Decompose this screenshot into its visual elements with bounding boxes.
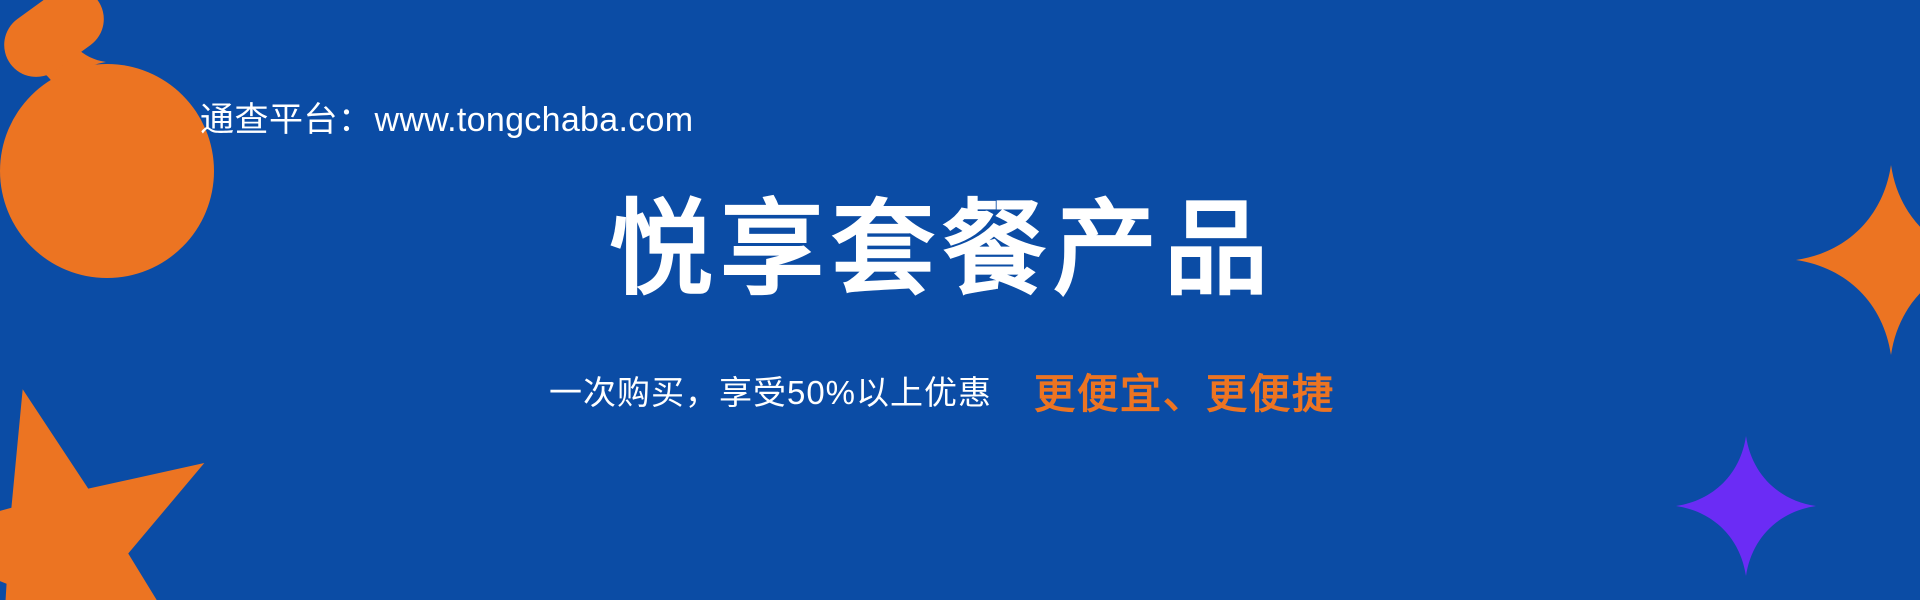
site-url: www.tongchaba.com — [375, 101, 694, 139]
site-line: 通查平台：www.tongchaba.com — [200, 101, 693, 140]
banner-subtitle: 一次购买，享受50%以上优惠更便宜、更便捷 — [0, 360, 1902, 420]
subtitle-primary: 一次购买，享受50%以上优惠 — [549, 374, 992, 411]
banner-text-layer: 通查平台：www.tongchaba.com 悦享套餐产品 一次购买，享受50%… — [0, 0, 1920, 600]
site-label: 通查平台： — [200, 101, 373, 139]
subtitle-accent: 更便宜、更便捷 — [1034, 371, 1335, 417]
promo-banner: 通查平台：www.tongchaba.com 悦享套餐产品 一次购买，享受50%… — [0, 0, 1920, 600]
banner-headline: 悦享套餐产品 — [0, 196, 1902, 305]
